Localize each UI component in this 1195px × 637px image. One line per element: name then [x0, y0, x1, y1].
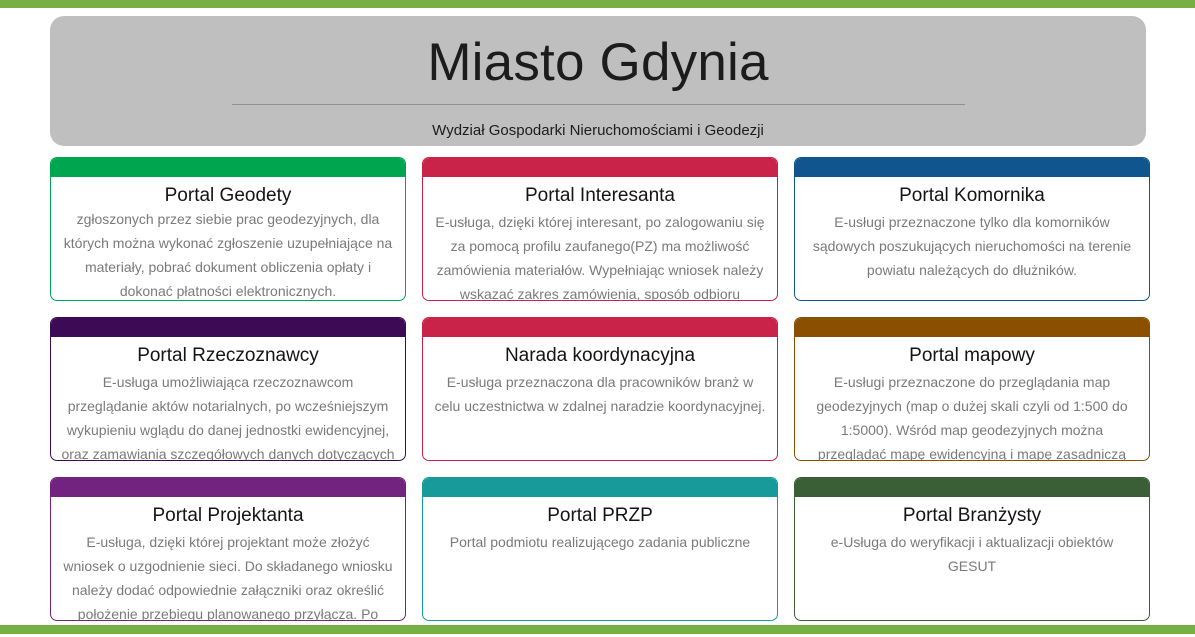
card-color-strip: [51, 318, 405, 337]
card-description: Portal podmiotu realizującego zadania pu…: [433, 530, 767, 554]
card-body: Narada koordynacyjna E-usługa przeznaczo…: [423, 344, 777, 418]
card-description: E-usługi przeznaczone do przeglądania ma…: [805, 370, 1139, 461]
card-narada-koordynacyjna[interactable]: Narada koordynacyjna E-usługa przeznaczo…: [422, 317, 778, 461]
card-portal-projektanta[interactable]: Portal Projektanta E-usługa, dzięki któr…: [50, 477, 406, 621]
portal-card-grid: Portal Geodety zgłoszonych przez siebie …: [50, 157, 1150, 637]
card-description: E-usługa, dzięki której interesant, po z…: [433, 210, 767, 301]
card-color-strip: [795, 158, 1149, 177]
card-title: Portal Interesanta: [433, 184, 767, 208]
card-title: Portal Projektanta: [61, 504, 395, 528]
card-body: Portal Komornika E-usługi przeznaczone t…: [795, 184, 1149, 282]
card-description: E-usługa przeznaczona dla pracowników br…: [433, 370, 767, 418]
top-accent-bar: [0, 0, 1195, 8]
header-divider: [232, 104, 965, 105]
card-color-strip: [795, 478, 1149, 497]
card-title: Portal PRZP: [433, 504, 767, 528]
card-portal-geodety[interactable]: Portal Geodety zgłoszonych przez siebie …: [50, 157, 406, 301]
card-title: Narada koordynacyjna: [433, 344, 767, 368]
card-body: Portal Branżysty e-Usługa do weryfikacji…: [795, 504, 1149, 578]
card-color-strip: [423, 318, 777, 337]
page-subtitle: Wydział Gospodarki Nieruchomościami i Ge…: [50, 122, 1146, 139]
card-body: Portal Projektanta E-usługa, dzięki któr…: [51, 504, 405, 621]
card-color-strip: [795, 318, 1149, 337]
page-title: Miasto Gdynia: [50, 36, 1146, 89]
card-body: Portal PRZP Portal podmiotu realizująceg…: [423, 504, 777, 554]
card-title: Portal Rzeczoznawcy: [61, 344, 395, 368]
card-description: E-usługa umożliwiająca rzeczoznawcom prz…: [61, 370, 395, 461]
card-title: Portal Komornika: [805, 184, 1139, 208]
card-body: Portal Rzeczoznawcy E-usługa umożliwiają…: [51, 344, 405, 461]
card-description: e-Usługa do weryfikacji i aktualizacji o…: [805, 530, 1139, 578]
bottom-accent-bar: [0, 625, 1195, 634]
card-body: Portal Interesanta E-usługa, dzięki któr…: [423, 184, 777, 301]
card-portal-przp[interactable]: Portal PRZP Portal podmiotu realizująceg…: [422, 477, 778, 621]
card-title: Portal Branżysty: [805, 504, 1139, 528]
card-row-2: Portal Rzeczoznawcy E-usługa umożliwiają…: [50, 317, 1150, 461]
card-color-strip: [423, 158, 777, 177]
card-description: E-usługi przeznaczone tylko dla komornik…: [805, 210, 1139, 282]
card-row-1: Portal Geodety zgłoszonych przez siebie …: [50, 157, 1150, 301]
card-description: E-usługa, dzięki której projektant może …: [61, 530, 395, 621]
card-title: Portal Geodety: [51, 184, 405, 208]
card-color-strip: [423, 478, 777, 497]
card-portal-interesanta[interactable]: Portal Interesanta E-usługa, dzięki któr…: [422, 157, 778, 301]
card-portal-komornika[interactable]: Portal Komornika E-usługi przeznaczone t…: [794, 157, 1150, 301]
card-row-3: Portal Projektanta E-usługa, dzięki któr…: [50, 477, 1150, 621]
card-body: Portal Geodety zgłoszonych przez siebie …: [51, 177, 405, 301]
card-body: Portal mapowy E-usługi przeznaczone do p…: [795, 344, 1149, 461]
card-portal-mapowy[interactable]: Portal mapowy E-usługi przeznaczone do p…: [794, 317, 1150, 461]
card-color-strip: [51, 158, 405, 177]
page-header-panel: Miasto Gdynia Wydział Gospodarki Nieruch…: [50, 16, 1146, 146]
card-portal-rzeczoznawcy[interactable]: Portal Rzeczoznawcy E-usługa umożliwiają…: [50, 317, 406, 461]
card-color-strip: [51, 478, 405, 497]
card-portal-branzysty[interactable]: Portal Branżysty e-Usługa do weryfikacji…: [794, 477, 1150, 621]
card-title: Portal mapowy: [805, 344, 1139, 368]
